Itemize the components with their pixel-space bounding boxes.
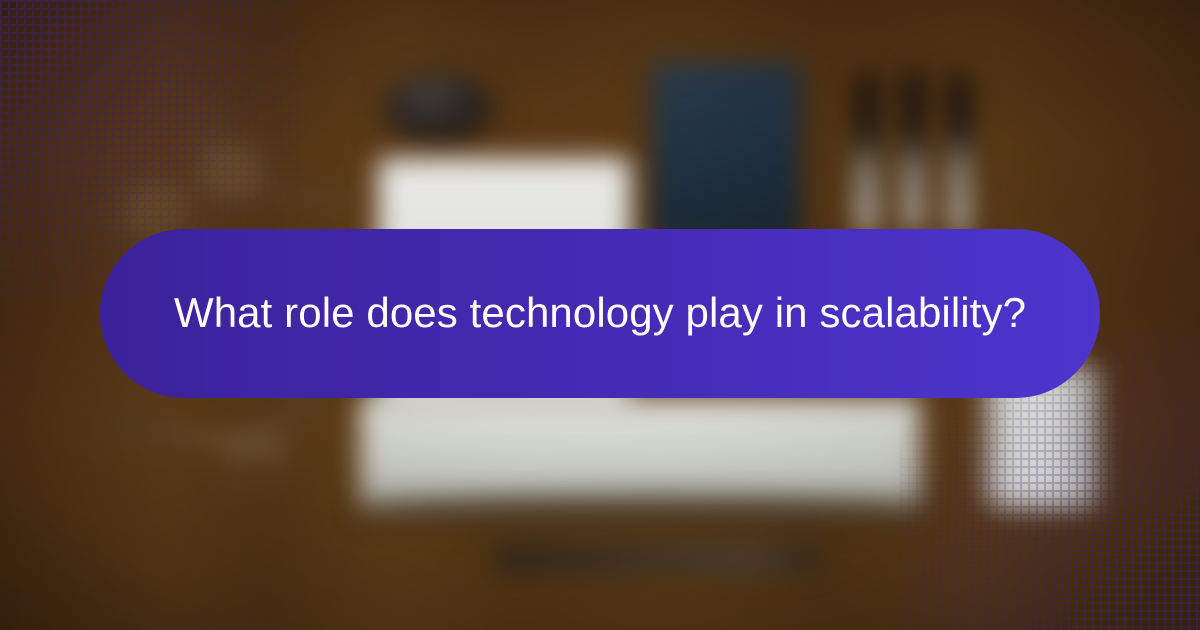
question-text: What role does technology play in scalab… bbox=[174, 288, 1026, 338]
question-pill[interactable]: What role does technology play in scalab… bbox=[100, 229, 1100, 398]
question-card: What role does technology play in scalab… bbox=[0, 0, 1200, 630]
